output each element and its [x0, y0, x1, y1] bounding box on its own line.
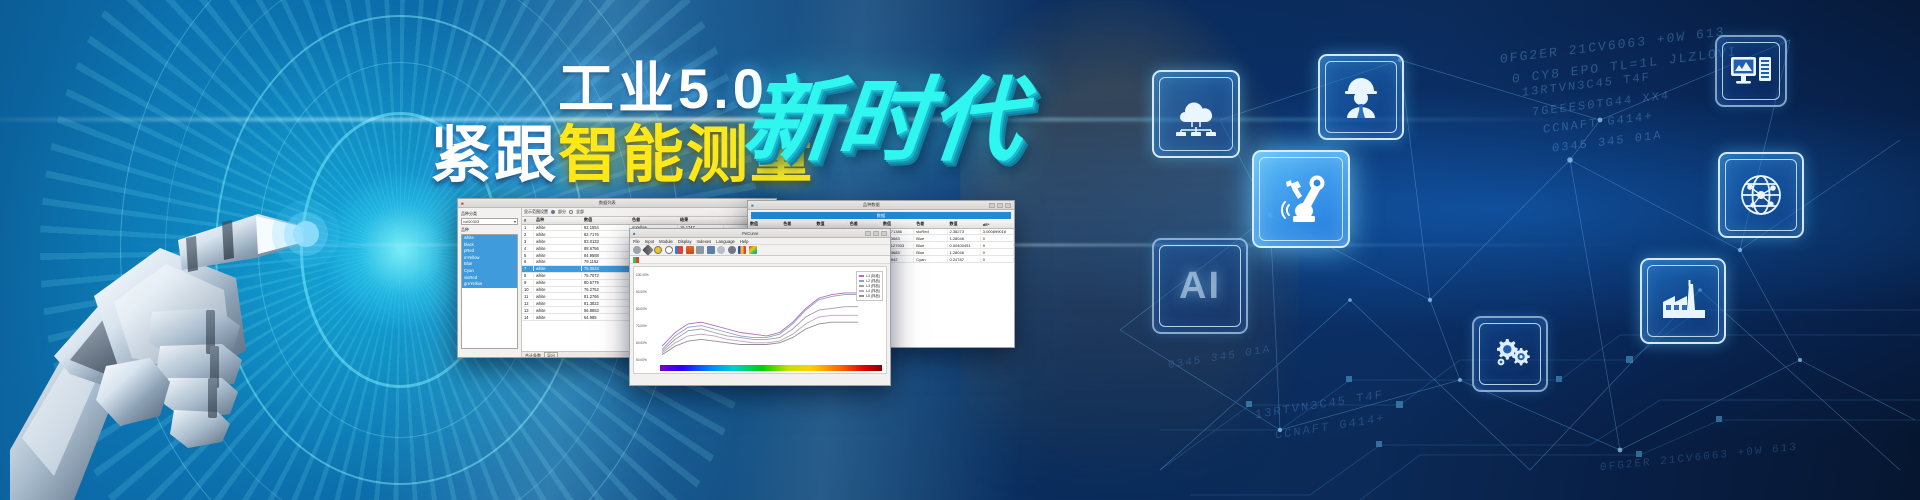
cell: 0: [981, 243, 1014, 248]
window-variety-table-titlebar[interactable]: ■ 品种数据: [748, 201, 1014, 210]
tile-globe-network[interactable]: [1718, 152, 1804, 238]
cell-index: 1: [522, 225, 534, 230]
tile-monitor-analytics[interactable]: [1715, 35, 1787, 107]
y-tick-1: 90.00%: [636, 290, 647, 294]
cell-variety: white: [534, 246, 582, 251]
chart-series-line: [662, 295, 858, 350]
chart-menubar[interactable]: File Input Module Display Indexes Langua…: [630, 238, 890, 245]
refresh-icon[interactable]: [717, 246, 725, 254]
palette-color-icon[interactable]: [749, 246, 757, 254]
minimize-button[interactable]: [989, 203, 995, 208]
cell: 3.000899016: [981, 229, 1014, 234]
menu-language[interactable]: Language: [716, 239, 735, 244]
menu-display[interactable]: Display: [678, 239, 692, 244]
code-line-7: CCNAFT G414+: [1275, 411, 1385, 442]
cell-value: 81.3822: [582, 301, 630, 306]
table-header-row: # 品种 数值 色差 结果: [522, 217, 776, 225]
cell-variety: white: [534, 301, 582, 306]
palette-blue-icon[interactable]: [738, 246, 746, 254]
legend-item: L5 (样品): [859, 294, 880, 299]
cell: 1.28046: [948, 236, 981, 241]
code-line-9: 0FG2ER 21CV6063 +0W 613: [1600, 442, 1798, 475]
close-button[interactable]: [881, 231, 887, 236]
chart-toolbar[interactable]: [630, 245, 890, 256]
window-controls[interactable]: [865, 231, 887, 236]
col-delta-3: 色差: [914, 221, 947, 227]
close-button[interactable]: [1005, 203, 1011, 208]
col-delta-1: 色差: [781, 221, 814, 227]
tile-robot-arm[interactable]: [1252, 150, 1350, 248]
cell-variety: white: [534, 287, 582, 292]
window-variety-table-title: 品种数据: [863, 202, 880, 208]
col-index: #: [522, 218, 534, 223]
cell: vioRed: [914, 229, 947, 234]
cell-value: 75.7073: [582, 273, 630, 278]
y-tick-5: 50.00%: [636, 358, 647, 362]
cell-value: 64.985: [582, 315, 630, 320]
robot-arm-icon: [1274, 174, 1328, 224]
radio-all[interactable]: [569, 210, 573, 214]
y-tick-0: 100.00%: [636, 273, 649, 277]
menu-module[interactable]: Module: [659, 239, 673, 244]
tile-cloud-network[interactable]: [1152, 70, 1240, 158]
window-data-list-title: 数据列表: [599, 200, 616, 206]
cell-index: 12: [522, 301, 534, 306]
cell: 0: [981, 236, 1014, 241]
maximize-button[interactable]: [873, 231, 879, 236]
cell-variety: white: [534, 280, 582, 285]
list-item[interactable]: vioRed: [462, 275, 517, 282]
toggle-series-icon[interactable]: [633, 257, 639, 263]
save-icon[interactable]: [707, 246, 715, 254]
cell: Blue: [914, 236, 947, 241]
cell-variety: white: [534, 315, 582, 320]
cloud-network-icon: [1171, 92, 1221, 136]
list-item[interactable]: black: [462, 242, 517, 249]
cell-index: 4: [522, 246, 534, 251]
radio-partial[interactable]: [551, 210, 555, 214]
list-item[interactable]: mYellow: [462, 255, 517, 262]
cell-value: 88.6756: [582, 246, 630, 251]
list-item[interactable]: white: [462, 235, 517, 242]
robot-hand-graphic: [10, 120, 340, 500]
cell: 2.38273: [948, 229, 981, 234]
window-spectral-chart[interactable]: ■ PeCurve File Input Module Display Inde…: [629, 228, 891, 386]
legend-swatch: [859, 295, 864, 297]
circle-yellow-icon[interactable]: [654, 246, 662, 254]
cell-index: 7: [522, 266, 534, 271]
code-line-8: 0345 345 01A: [1168, 344, 1271, 372]
legend-swatch: [859, 285, 864, 287]
variety-label: 品种: [461, 227, 518, 233]
display-range-label: 显示范围设置: [524, 209, 548, 215]
menu-file[interactable]: File: [633, 239, 640, 244]
radio-all-label: 全部: [576, 209, 584, 215]
category-combobox[interactable]: vol00303 ▾: [461, 218, 518, 225]
cell-index: 3: [522, 239, 534, 244]
industrial-banner: 0FG2ER 21CV6063 +0W 613 0 CY8 EPO TL=1L …: [0, 0, 1920, 500]
pencil-icon[interactable]: [642, 244, 653, 255]
chevron-down-icon: ▾: [514, 219, 516, 224]
factory-icon: [1659, 280, 1707, 322]
cell-variety: white: [534, 308, 582, 313]
globe-network-icon: [1737, 171, 1785, 219]
window-controls[interactable]: [989, 203, 1011, 208]
cell-value: 82.7176: [582, 232, 630, 237]
cell-variety: white: [534, 273, 582, 278]
cell: Blue: [914, 250, 947, 255]
code-line-6: 13RTVN3C45 T4F: [1255, 388, 1384, 422]
cell: Cyan: [914, 257, 947, 262]
variety-listbox[interactable]: white black pRed mYellow Blue Cyan vioRe…: [461, 234, 518, 349]
maximize-button[interactable]: [997, 203, 1003, 208]
table-banner: 数据: [751, 212, 1011, 219]
category-label: 品种分类: [461, 211, 518, 217]
cell-index: 5: [522, 253, 534, 258]
menu-input[interactable]: Input: [645, 239, 654, 244]
tile-factory[interactable]: [1640, 258, 1726, 344]
y-tick-4: 60.00%: [636, 341, 647, 345]
cell-variety: white: [534, 225, 582, 230]
tile-engineer[interactable]: [1318, 54, 1404, 140]
monitor-analytics-icon: [1730, 55, 1772, 87]
cell: 0.24787: [948, 257, 981, 262]
gears-icon: [1488, 336, 1532, 372]
circle-white-icon[interactable]: [665, 246, 673, 254]
code-line-2: 13RTVN3C45 T4F: [1522, 70, 1651, 100]
code-line-1: 0 CY8 EPO TL=1L JLZLOVI: [1512, 44, 1737, 87]
cell-variety: white: [534, 232, 582, 237]
cell-index: 14: [522, 315, 534, 320]
code-line-3: 7GEEES0TG44 XX4: [1532, 89, 1670, 120]
printer-icon[interactable]: [696, 246, 704, 254]
y-tick-3: 70.00%: [636, 324, 647, 328]
status-count-label: 合计条数: [525, 353, 541, 359]
cell-index: 9: [522, 280, 534, 285]
cell-value: 56.8853: [582, 308, 630, 313]
cell-variety: white: [534, 294, 582, 299]
display-range-toolbar[interactable]: 显示范围设置 部分 全部: [522, 208, 776, 216]
cell-value: 83.0133: [582, 239, 630, 244]
chart-series-line: [662, 293, 858, 346]
col-de: dE*: [981, 222, 1014, 227]
ai-label: AI: [1179, 265, 1221, 308]
cell-value: 76.2752: [582, 287, 630, 292]
col-result: 结果: [678, 217, 724, 223]
menu-help[interactable]: Help: [740, 239, 749, 244]
cell: 1.28046: [948, 250, 981, 255]
col-value-4: 数值: [948, 221, 981, 227]
folder-icon[interactable]: [686, 246, 694, 254]
cell: Blue: [914, 243, 947, 248]
spectrum-color-bar: [660, 365, 882, 371]
legend-swatch: [859, 290, 864, 292]
category-pane: 品种分类 vol00303 ▾ 品种 white black pRed mYel…: [458, 208, 522, 358]
tile-gears[interactable]: [1472, 316, 1548, 392]
engineer-icon: [1338, 74, 1384, 120]
col-value-3: 数值: [881, 221, 914, 227]
cell-value: 80.6779: [582, 280, 630, 285]
minimize-button[interactable]: [865, 231, 871, 236]
legend-swatch: [859, 280, 864, 282]
code-line-5: 0345 345 01A: [1552, 128, 1662, 156]
code-line-0: 0FG2ER 21CV6063 +0W 613: [1500, 24, 1725, 67]
col-delta-2: 色差: [848, 221, 881, 227]
cell-value: 75.0624: [582, 266, 630, 271]
cell-index: 11: [522, 294, 534, 299]
chart-lines: [660, 271, 860, 363]
cell-value: 84.9588: [582, 253, 630, 258]
cell: 0.00400491: [948, 243, 981, 248]
chart-subtoolbar[interactable]: [630, 256, 890, 264]
legend-swatch: [859, 275, 864, 277]
y-tick-2: 80.00%: [636, 307, 647, 311]
cell: 0: [981, 257, 1014, 262]
col-value: 数值: [582, 217, 630, 223]
cell-index: 6: [522, 259, 534, 264]
cell-variety: white: [534, 259, 582, 264]
chart-bar-icon[interactable]: [675, 246, 683, 254]
window-spectral-chart-titlebar[interactable]: ■ PeCurve: [630, 229, 890, 238]
col-value-2: 数值: [815, 221, 848, 227]
list-item[interactable]: greYellow: [462, 281, 517, 288]
category-combobox-value: vol00303: [463, 219, 479, 224]
search-icon[interactable]: [728, 246, 736, 254]
col-variety: 品种: [534, 217, 582, 223]
list-item[interactable]: pRed: [462, 248, 517, 255]
headline-line-2-white: 紧跟: [430, 121, 558, 190]
cell-index: 10: [522, 287, 534, 292]
cell-value: 82.1554: [582, 225, 630, 230]
legend-label: L5 (样品): [866, 294, 880, 299]
cell-variety: white: [534, 266, 582, 271]
cell-index: 13: [522, 308, 534, 313]
cell-value: 81.2766: [582, 294, 630, 299]
cell-index: 2: [522, 232, 534, 237]
chart-plot-area[interactable]: 100.00% 90.00% 80.00% 70.00% 60.00% 50.0…: [633, 266, 887, 374]
menu-indexes[interactable]: Indexes: [697, 239, 712, 244]
chart-legend[interactable]: L1 (标准) L2 (样品) L3 (样品) L4 (样品) L5 (样品): [856, 271, 883, 301]
col-value-1: 数值: [748, 221, 781, 227]
list-item[interactable]: Cyan: [462, 268, 517, 275]
list-item[interactable]: Blue: [462, 261, 517, 268]
tile-ai[interactable]: AI: [1152, 238, 1248, 334]
settings-icon[interactable]: [633, 246, 641, 254]
cell-value: 79.1152: [582, 259, 630, 264]
window-spectral-chart-title: PeCurve: [742, 231, 758, 236]
export-button[interactable]: 导出: [544, 352, 558, 359]
headline-highlight: 新时代: [738, 46, 1031, 179]
window-data-list-titlebar[interactable]: ■ 数据列表: [458, 199, 776, 208]
code-line-4: CCNAFT G414+: [1543, 109, 1653, 137]
cell-variety: white: [534, 239, 582, 244]
chart-series-line: [662, 315, 858, 353]
cell: 0: [981, 250, 1014, 255]
radio-partial-label: 部分: [558, 209, 566, 215]
col-delta: 色差: [630, 217, 678, 223]
cell-variety: white: [534, 253, 582, 258]
cell-index: 8: [522, 273, 534, 278]
